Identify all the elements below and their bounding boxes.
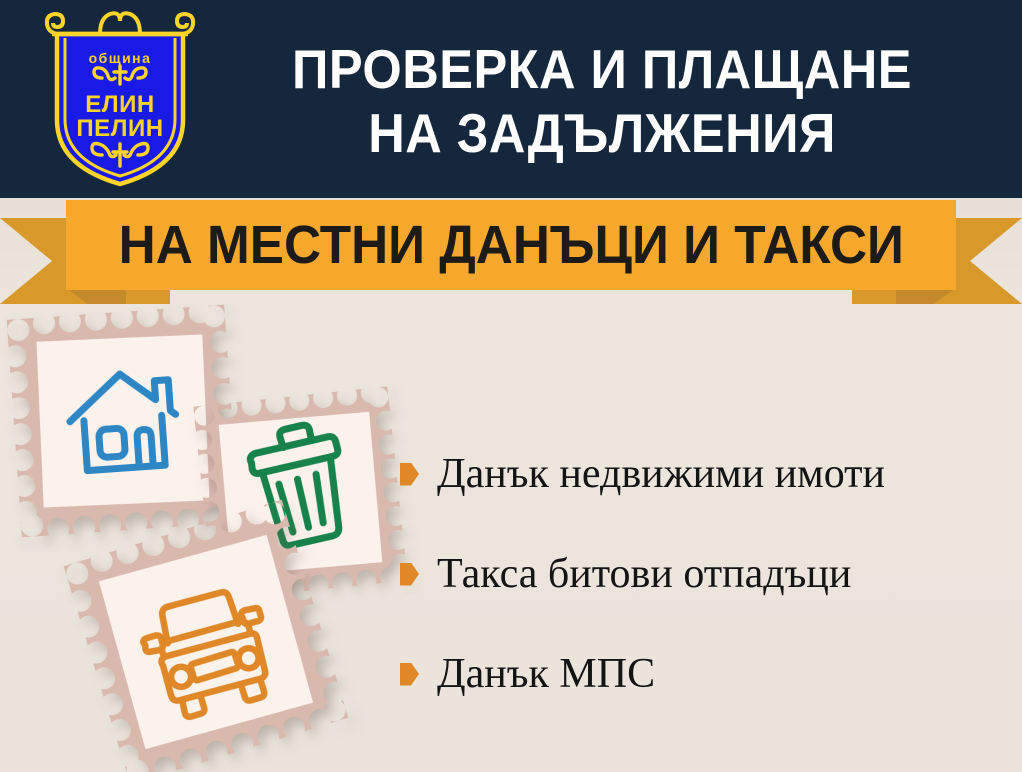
list-item-label: Данък МПС	[437, 653, 655, 695]
page-title-line-2: НА ЗАДЪЛЖЕНИЯ	[368, 101, 836, 165]
subtitle-ribbon: НА МЕСТНИ ДАНЪЦИ И ТАКСИ	[0, 198, 1022, 308]
ribbon-main-panel: НА МЕСТНИ ДАНЪЦИ И ТАКСИ	[66, 200, 956, 290]
list-item-label: Данък недвижими имоти	[437, 453, 885, 495]
crest-text-pelin: ПЕЛИН	[76, 115, 163, 142]
poster-canvas: община ЕЛИН ПЕЛИН ПРОВЕРКА И ПЛАЩАНЕ НА …	[0, 0, 1022, 772]
page-title-line-1: ПРОВЕРКА И ПЛАЩАНЕ	[292, 37, 912, 101]
arrow-bullet-icon	[400, 563, 419, 586]
coat-of-arms: община ЕЛИН ПЕЛИН	[40, 8, 200, 190]
page-title: ПРОВЕРКА И ПЛАЩАНЕ НА ЗАДЪЛЖЕНИЯ	[228, 16, 975, 186]
tax-type-list: Данък недвижими имоти Такса битови отпад…	[400, 424, 1015, 724]
arrow-bullet-icon	[400, 663, 419, 686]
list-item: Данък МПС	[400, 624, 1015, 724]
crest-text-obshtina: община	[89, 50, 152, 66]
crest-text-elin: ЕЛИН	[85, 91, 154, 118]
list-item: Такса битови отпадъци	[400, 524, 1015, 624]
coat-of-arms-graphic: община ЕЛИН ПЕЛИН	[40, 8, 200, 190]
list-item: Данък недвижими имоти	[400, 424, 1015, 524]
ribbon-label: НА МЕСТНИ ДАНЪЦИ И ТАКСИ	[118, 214, 903, 276]
list-item-label: Такса битови отпадъци	[437, 553, 851, 595]
arrow-bullet-icon	[400, 463, 419, 486]
